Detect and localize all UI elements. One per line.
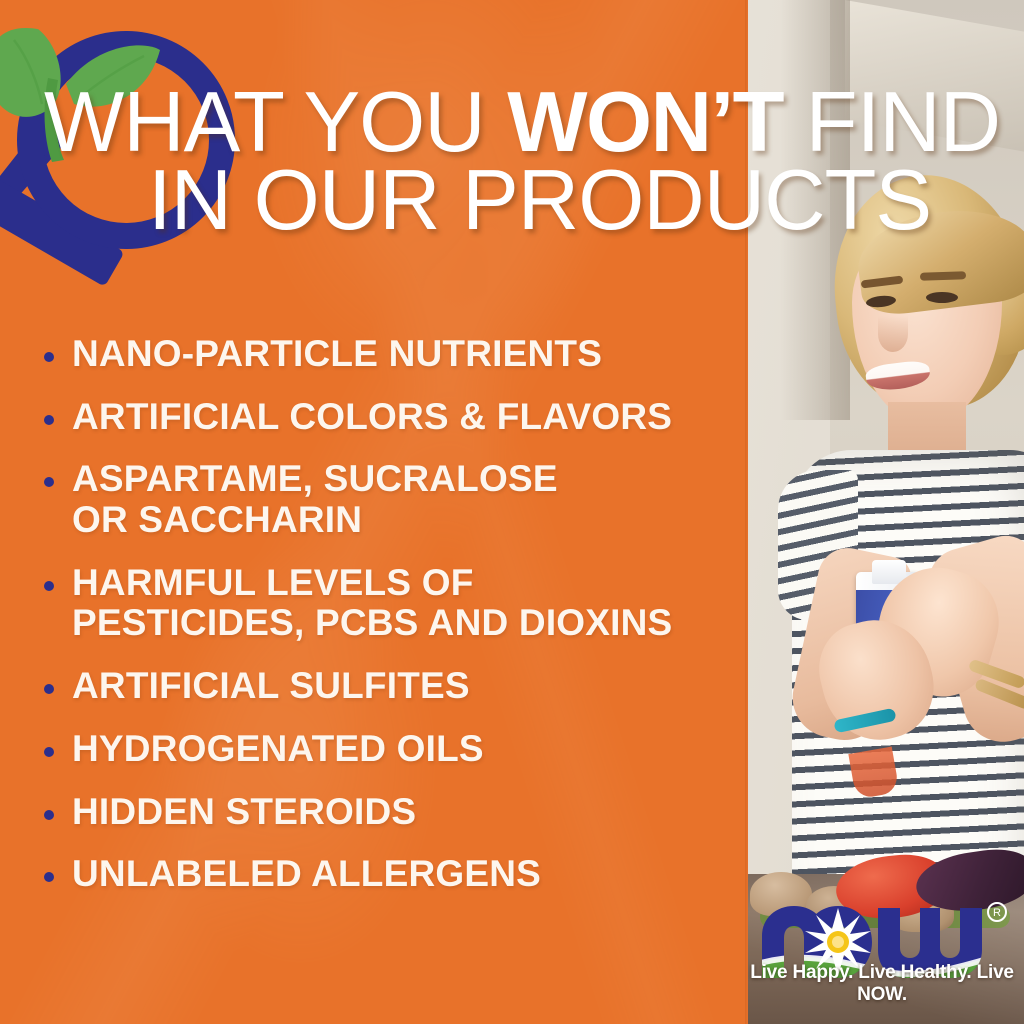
list-item-label: HARMFUL LEVELS OFPESTICIDES, PCBS AND DI…: [72, 563, 672, 644]
list-item: HYDROGENATED OILS: [44, 729, 744, 770]
list-item-label: ARTIFICIAL SULFITES: [72, 666, 470, 707]
list-item-label: NANO-PARTICLE NUTRIENTS: [72, 334, 602, 375]
headline-line-2: IN OUR PRODUCTS: [44, 162, 1004, 240]
bullet-dot-icon: [44, 415, 54, 425]
brand-tagline: Live Happy. Live Healthy. Live NOW.: [748, 962, 1016, 1006]
page-title: WHAT YOU WON’T FIND IN OUR PRODUCTS: [44, 84, 1004, 240]
list-item: HIDDEN STEROIDS: [44, 792, 744, 833]
list-item: HARMFUL LEVELS OFPESTICIDES, PCBS AND DI…: [44, 563, 744, 644]
eye-right: [926, 292, 958, 303]
bullet-dot-icon: [44, 872, 54, 882]
bullet-dot-icon: [44, 352, 54, 362]
nose: [878, 316, 908, 352]
bullet-dot-icon: [44, 747, 54, 757]
list-item-label: UNLABELED ALLERGENS: [72, 854, 541, 895]
list-item: ASPARTAME, SUCRALOSEOR SACCHARIN: [44, 459, 744, 540]
excluded-ingredients-list: NANO-PARTICLE NUTRIENTS ARTIFICIAL COLOR…: [44, 334, 744, 917]
registered-trademark-icon: R: [988, 903, 1006, 921]
list-item: ARTIFICIAL COLORS & FLAVORS: [44, 397, 744, 438]
eyebrow-right: [920, 271, 966, 281]
bullet-dot-icon: [44, 581, 54, 591]
svg-text:R: R: [993, 907, 1001, 919]
promo-graphic: WHAT YOU WON’T FIND IN OUR PRODUCTS NANO…: [0, 0, 1024, 1024]
bullet-dot-icon: [44, 810, 54, 820]
list-item-label: ARTIFICIAL COLORS & FLAVORS: [72, 397, 672, 438]
list-item: UNLABELED ALLERGENS: [44, 854, 744, 895]
list-item-label: ASPARTAME, SUCRALOSEOR SACCHARIN: [72, 459, 558, 540]
list-item-label: HIDDEN STEROIDS: [72, 792, 416, 833]
list-item: NANO-PARTICLE NUTRIENTS: [44, 334, 744, 375]
bullet-dot-icon: [44, 477, 54, 487]
bullet-dot-icon: [44, 684, 54, 694]
list-item: ARTIFICIAL SULFITES: [44, 666, 744, 707]
list-item-label: HYDROGENATED OILS: [72, 729, 484, 770]
